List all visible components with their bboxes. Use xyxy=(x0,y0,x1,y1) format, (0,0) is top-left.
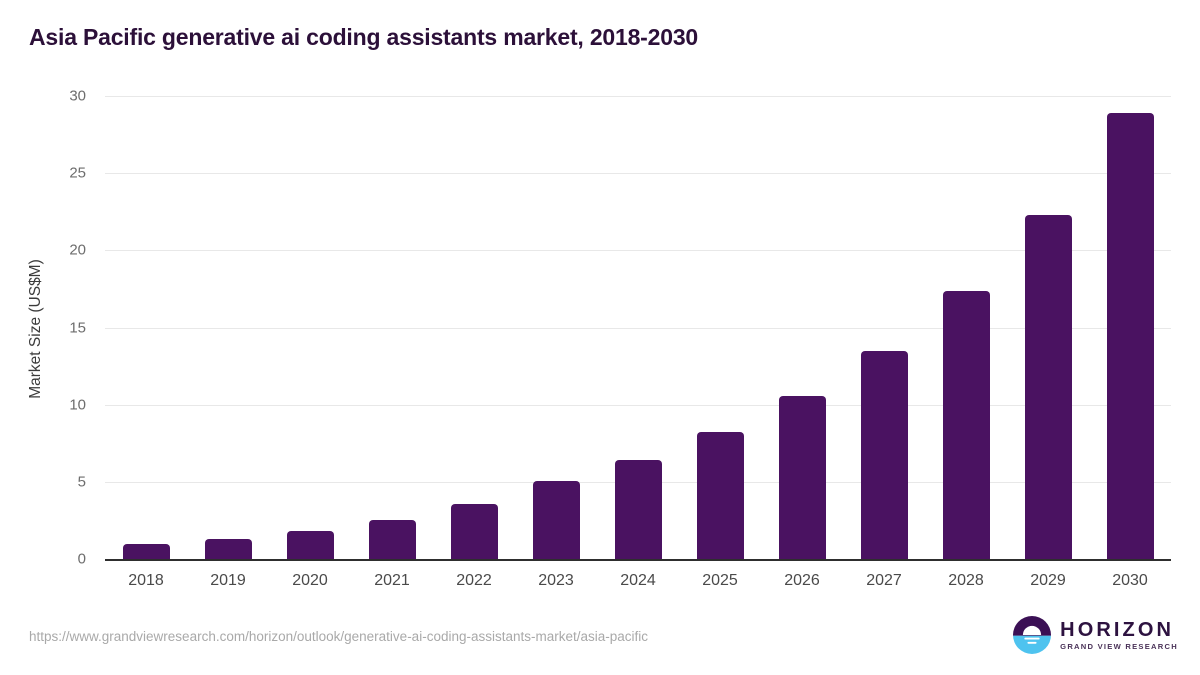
bar[interactable] xyxy=(1107,113,1154,559)
bar[interactable] xyxy=(943,291,990,559)
bar[interactable] xyxy=(123,544,170,559)
bar[interactable] xyxy=(1025,215,1072,559)
bar[interactable] xyxy=(369,520,416,559)
x-axis-tick-label: 2023 xyxy=(516,572,596,590)
x-axis-tick-label: 2029 xyxy=(1008,572,1088,590)
y-axis-tick-label: 15 xyxy=(46,319,86,336)
x-axis-tick-label: 2030 xyxy=(1090,572,1170,590)
horizon-logo[interactable]: HORIZON GRAND VIEW RESEARCH xyxy=(1013,616,1178,654)
gridline xyxy=(105,250,1171,251)
gridline xyxy=(105,405,1171,406)
y-axis-tick-label: 0 xyxy=(46,551,86,568)
x-axis-tick-label: 2027 xyxy=(844,572,924,590)
x-axis-line xyxy=(105,559,1171,561)
x-axis-tick-label: 2024 xyxy=(598,572,678,590)
y-axis-title: Market Size (US$M) xyxy=(27,229,45,429)
x-axis-tick-label: 2022 xyxy=(434,572,514,590)
x-axis-tick-label: 2026 xyxy=(762,572,842,590)
chart-card: Asia Pacific generative ai coding assist… xyxy=(0,0,1200,675)
gridline xyxy=(105,96,1171,97)
bar-chart-plot: Market Size (US$M) 051015202530 20182019… xyxy=(0,0,1200,675)
horizon-logo-text: HORIZON GRAND VIEW RESEARCH xyxy=(1060,620,1178,651)
bar[interactable] xyxy=(451,504,498,559)
x-axis-tick-label: 2025 xyxy=(680,572,760,590)
bar[interactable] xyxy=(615,460,662,559)
bar[interactable] xyxy=(287,531,334,559)
horizon-logo-icon xyxy=(1013,616,1051,654)
bar[interactable] xyxy=(779,396,826,559)
x-axis-tick-label: 2019 xyxy=(188,572,268,590)
gridline xyxy=(105,328,1171,329)
y-axis-tick-label: 25 xyxy=(46,165,86,182)
bar[interactable] xyxy=(205,539,252,559)
y-axis-tick-label: 20 xyxy=(46,242,86,259)
y-axis-tick-label: 10 xyxy=(46,396,86,413)
bar[interactable] xyxy=(533,481,580,559)
source-url[interactable]: https://www.grandviewresearch.com/horizo… xyxy=(29,629,648,644)
y-axis-tick-label: 5 xyxy=(46,473,86,490)
logo-tagline: GRAND VIEW RESEARCH xyxy=(1060,643,1178,651)
bar[interactable] xyxy=(697,432,744,559)
x-axis-tick-label: 2021 xyxy=(352,572,432,590)
x-axis-tick-label: 2028 xyxy=(926,572,1006,590)
bar[interactable] xyxy=(861,351,908,559)
logo-wordmark: HORIZON xyxy=(1060,620,1178,640)
x-axis-tick-label: 2020 xyxy=(270,572,350,590)
x-axis-tick-label: 2018 xyxy=(106,572,186,590)
gridline xyxy=(105,173,1171,174)
y-axis-tick-label: 30 xyxy=(46,88,86,105)
